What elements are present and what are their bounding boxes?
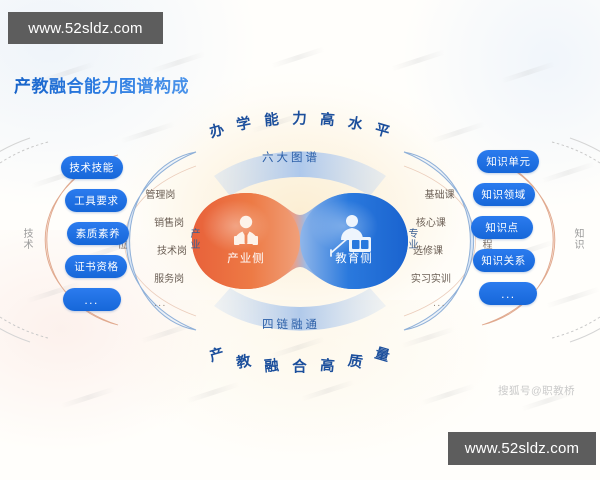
pill-left-素质素养[interactable]: 素质素养 [67,222,129,245]
pill-right-知识点[interactable]: 知识点 [471,216,533,239]
pill-left-more[interactable]: ... [63,288,121,311]
band-top-label: 六大图谱 [262,149,320,165]
arc-label-knowledge: 知识 [570,228,585,250]
pill-right-more[interactable]: ... [479,282,537,305]
node-label-education: 教育侧 [322,250,386,266]
pill-left-技术技能[interactable]: 技术技能 [61,156,123,179]
page-title: 产教融合能力图谱构成 [14,72,189,97]
arc-label-technology: 技术 [19,228,34,250]
arc-label-industry: 产业 [186,228,201,250]
pill-left-证书资格[interactable]: 证书资格 [65,255,127,278]
infographic-canvas: 办学能力高水平 产教融合高质量 六大图谱 四链融通 产业侧 教育侧 产业 专业 … [0,0,600,480]
pill-left-工具要求[interactable]: 工具要求 [65,189,127,212]
lens-item: 实习实训 [411,270,451,285]
lens-item: 基础课 [425,186,455,201]
source-watermark: 搜狐号@职教桥 [498,383,575,398]
lens-item: ... [433,298,446,309]
lens-item: 选修课 [413,242,443,257]
pill-right-知识关系[interactable]: 知识关系 [473,249,535,272]
watermark-bottom: www.52sldz.com [448,432,596,465]
watermark-top: www.52sldz.com [8,12,163,44]
lens-item: 核心课 [416,214,446,229]
pill-right-知识单元[interactable]: 知识单元 [477,150,539,173]
pill-right-知识领域[interactable]: 知识领域 [473,183,535,206]
lens-item: 管理岗 [145,186,175,201]
band-bottom-label: 四链融通 [262,316,320,332]
center-infinity-shape [192,193,408,289]
lens-item: 服务岗 [154,270,184,285]
node-label-industry: 产业侧 [214,250,278,266]
lens-item: 销售岗 [154,214,184,229]
lens-item: 技术岗 [157,242,187,257]
lens-item: ... [154,298,167,309]
